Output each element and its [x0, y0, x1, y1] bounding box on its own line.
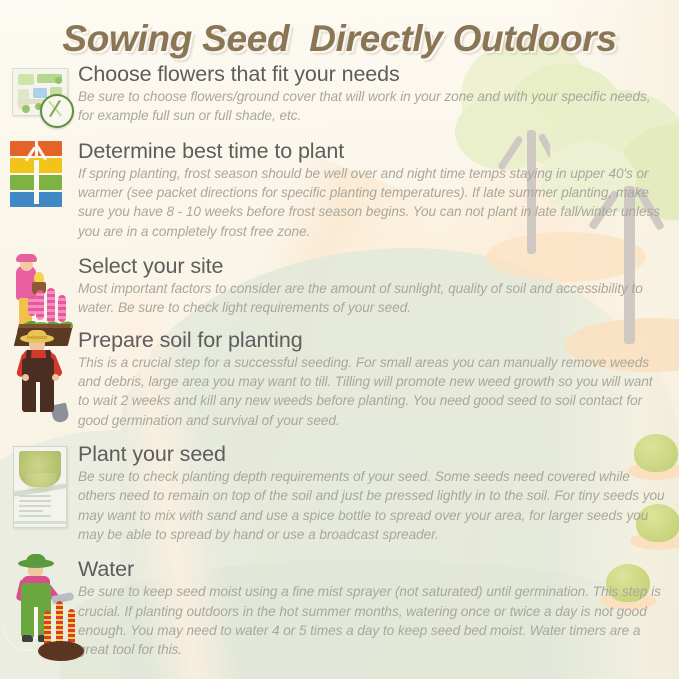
- step-text: Select your site Most important factors …: [78, 254, 679, 318]
- step-item: Prepare soil for planting This is a cruc…: [0, 328, 679, 430]
- step-title: Prepare soil for planting: [78, 328, 667, 352]
- step-title: Choose flowers that fit your needs: [78, 62, 667, 86]
- farmer-shovel-icon: [10, 330, 78, 424]
- step-text: Choose flowers that fit your needs Be su…: [78, 62, 679, 126]
- step-description: Most important factors to consider are t…: [78, 279, 667, 318]
- step-description: Be sure to keep seed moist using a fine …: [78, 582, 667, 659]
- step-description: If spring planting, frost season should …: [78, 164, 667, 241]
- step-title: Determine best time to plant: [78, 139, 667, 163]
- step-text: Plant your seed Be sure to check plantin…: [78, 442, 679, 544]
- step-title: Water: [78, 557, 667, 581]
- step-description: Be sure to choose flowers/ground cover t…: [78, 87, 667, 126]
- garden-plan-compass-icon: [10, 66, 72, 128]
- step-title: Plant your seed: [78, 442, 667, 466]
- infographic-poster: Sowing Seed Directly Outdoors: [0, 0, 679, 679]
- step-title: Select your site: [78, 254, 667, 278]
- step-text: Determine best time to plant If spring p…: [78, 139, 679, 241]
- step-description: Be sure to check planting depth requirem…: [78, 467, 667, 544]
- seed-packet-icon: [10, 446, 72, 530]
- step-item: Plant your seed Be sure to check plantin…: [0, 442, 679, 544]
- step-text: Water Be sure to keep seed moist using a…: [78, 557, 679, 659]
- step-item: Select your site Most important factors …: [0, 254, 679, 318]
- poster-title: Sowing Seed Directly Outdoors: [0, 18, 679, 60]
- step-item: Water Be sure to keep seed moist using a…: [0, 557, 679, 659]
- gardener-watering-icon: [10, 557, 86, 661]
- step-text: Prepare soil for planting This is a cruc…: [78, 328, 679, 430]
- step-description: This is a crucial step for a successful …: [78, 353, 667, 430]
- steps-list: Choose flowers that fit your needs Be su…: [0, 62, 679, 659]
- step-item: Choose flowers that fit your needs Be su…: [0, 62, 679, 126]
- step-item: Determine best time to plant If spring p…: [0, 139, 679, 241]
- four-seasons-icon: [10, 141, 66, 213]
